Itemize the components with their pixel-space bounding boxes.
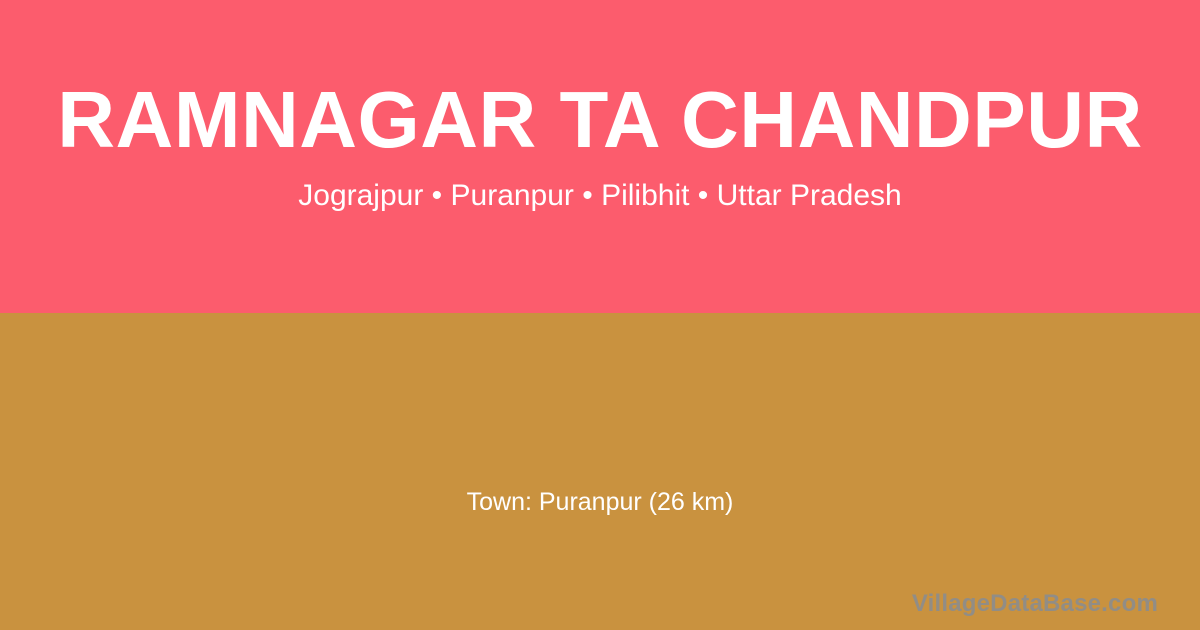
hero-text-block: RAMNAGAR TA CHANDPUR Jograjpur • Puranpu… bbox=[0, 0, 1200, 214]
page-title: RAMNAGAR TA CHANDPUR bbox=[0, 78, 1200, 162]
body-content: Town: Puranpur (26 km) bbox=[0, 313, 1200, 630]
body-band: Town: Puranpur (26 km) bbox=[0, 313, 1200, 630]
village-info-card: RAMNAGAR TA CHANDPUR Jograjpur • Puranpu… bbox=[0, 0, 1200, 630]
breadcrumb: Jograjpur • Puranpur • Pilibhit • Uttar … bbox=[0, 162, 1200, 214]
site-watermark: VillageDataBase.com bbox=[912, 590, 1158, 618]
hero-banner: RAMNAGAR TA CHANDPUR Jograjpur • Puranpu… bbox=[0, 0, 1200, 313]
nearest-town-info: Town: Puranpur (26 km) bbox=[467, 486, 734, 518]
